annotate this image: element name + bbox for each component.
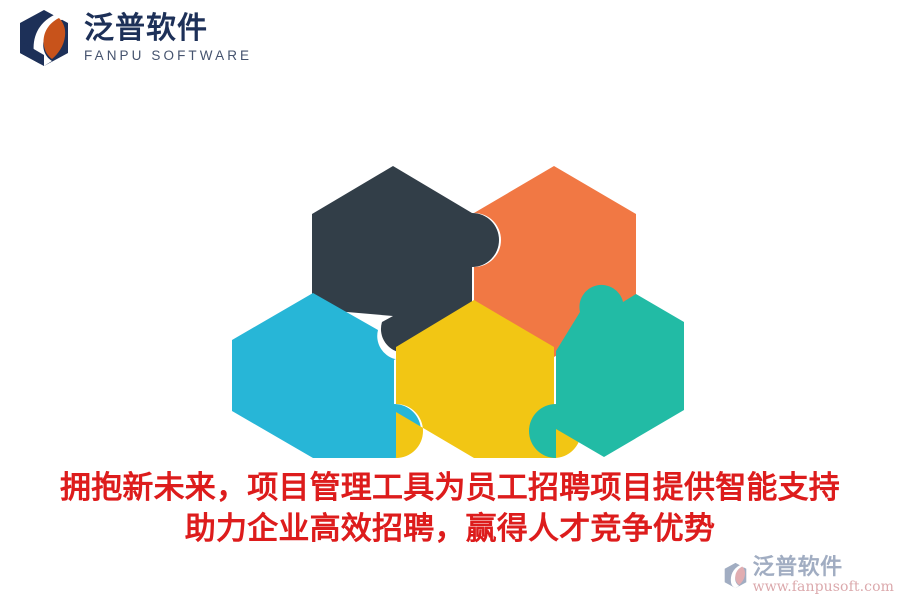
watermark: 泛普软件 www.fanpusoft.com <box>722 556 894 594</box>
headline-line-2: 助力企业高效招聘，赢得人才竞争优势 <box>0 509 900 550</box>
fanpu-hexagon-logo-icon <box>14 8 74 68</box>
brand-name-en: FANPU SOFTWARE <box>84 49 252 63</box>
brand-name-cn: 泛普软件 <box>84 14 252 44</box>
headline: 拥抱新未来，项目管理工具为员工招聘项目提供智能支持 助力企业高效招聘，赢得人才竞… <box>0 468 900 550</box>
watermark-text: 泛普软件 www.fanpusoft.com <box>753 556 894 594</box>
brand-wordmark: 泛普软件 FANPU SOFTWARE <box>84 14 252 63</box>
watermark-name-cn: 泛普软件 <box>753 556 894 578</box>
brand-header: 泛普软件 FANPU SOFTWARE <box>14 8 252 68</box>
hexagon-puzzle-illustration <box>228 152 688 472</box>
watermark-url: www.fanpusoft.com <box>753 580 894 594</box>
headline-line-1: 拥抱新未来，项目管理工具为员工招聘项目提供智能支持 <box>0 468 900 509</box>
fanpu-hexagon-logo-icon <box>722 562 749 589</box>
